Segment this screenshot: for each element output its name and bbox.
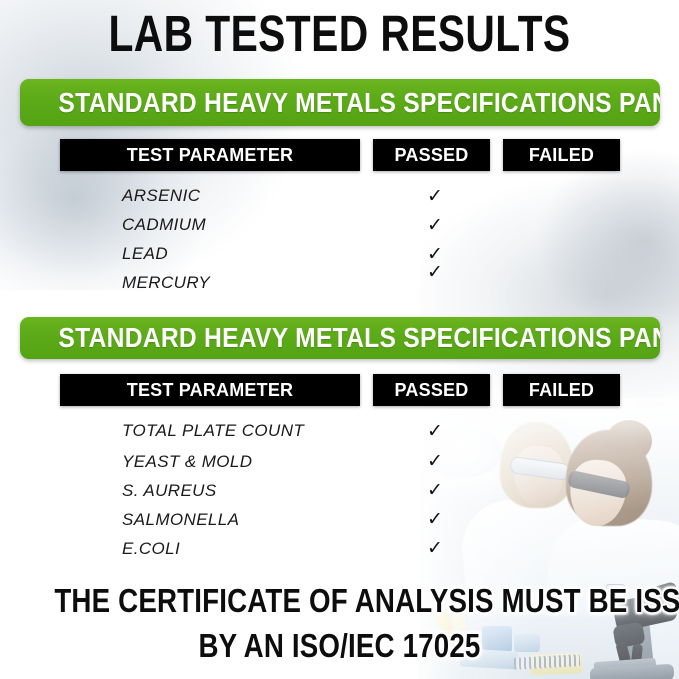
check-icon-passed: ✓ xyxy=(424,481,446,500)
section-banner-heavy-metals: STANDARD HEAVY METALS SPECIFICATIONS PAN… xyxy=(20,79,660,126)
check-icon-passed: ✓ xyxy=(424,452,446,471)
row-label: S. AUREUS xyxy=(122,481,217,501)
column-header-test-parameter: TEST PARAMETER xyxy=(60,374,360,406)
column-header-failed: FAILED xyxy=(503,374,620,406)
check-icon-passed: ✓ xyxy=(424,510,446,529)
content-layer: LAB TESTED RESULTS STANDARD HEAVY METALS… xyxy=(0,0,679,679)
check-icon-passed: ✓ xyxy=(424,216,446,235)
row-label: LEAD xyxy=(122,244,168,264)
section-banner-label: STANDARD HEAVY METALS SPECIFICATIONS PAN… xyxy=(58,317,621,359)
check-icon-passed: ✓ xyxy=(424,539,446,558)
row-label: SALMONELLA xyxy=(122,510,239,530)
column-header-test-parameter: TEST PARAMETER xyxy=(60,139,360,171)
certificate-notice-line-1: THE CERTIFICATE OF ANALYSIS MUST BE ISSU… xyxy=(54,582,679,619)
row-label: CADMIUM xyxy=(122,215,206,235)
row-label: YEAST & MOLD xyxy=(122,452,252,472)
check-icon-passed: ✓ xyxy=(424,422,446,441)
row-label: E.COLI xyxy=(122,539,180,559)
row-label: ARSENIC xyxy=(122,186,200,206)
certificate-notice-line-2: BY AN ISO/IEC 17025 xyxy=(54,623,624,668)
page-title: LAB TESTED RESULTS xyxy=(68,8,611,60)
lab-results-infographic: LAB TESTED RESULTS STANDARD HEAVY METALS… xyxy=(0,0,679,679)
check-icon-passed: ✓ xyxy=(424,263,446,282)
column-header-passed: PASSED xyxy=(373,374,490,406)
row-label: TOTAL PLATE COUNT xyxy=(122,421,304,441)
check-icon-passed: ✓ xyxy=(424,187,446,206)
section-banner-microbials: STANDARD HEAVY METALS SPECIFICATIONS PAN… xyxy=(20,317,660,359)
section-banner-label: STANDARD HEAVY METALS SPECIFICATIONS PAN… xyxy=(58,79,621,126)
column-header-failed: FAILED xyxy=(503,139,620,171)
certificate-notice: THE CERTIFICATE OF ANALYSIS MUST BE ISSU… xyxy=(54,578,624,668)
column-header-passed: PASSED xyxy=(373,139,490,171)
row-label: MERCURY xyxy=(122,273,210,293)
